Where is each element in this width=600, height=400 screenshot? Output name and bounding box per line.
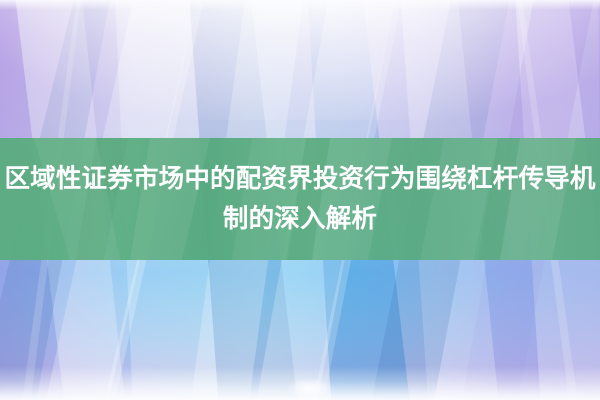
- article-banner-image: 区域性证券市场中的配资界投资行为围绕杠杆传导机制的深入解析: [0, 0, 600, 400]
- title-band: 区域性证券市场中的配资界投资行为围绕杠杆传导机制的深入解析: [0, 138, 600, 260]
- banner-title: 区域性证券市场中的配资界投资行为围绕杠杆传导机制的深入解析: [0, 159, 600, 239]
